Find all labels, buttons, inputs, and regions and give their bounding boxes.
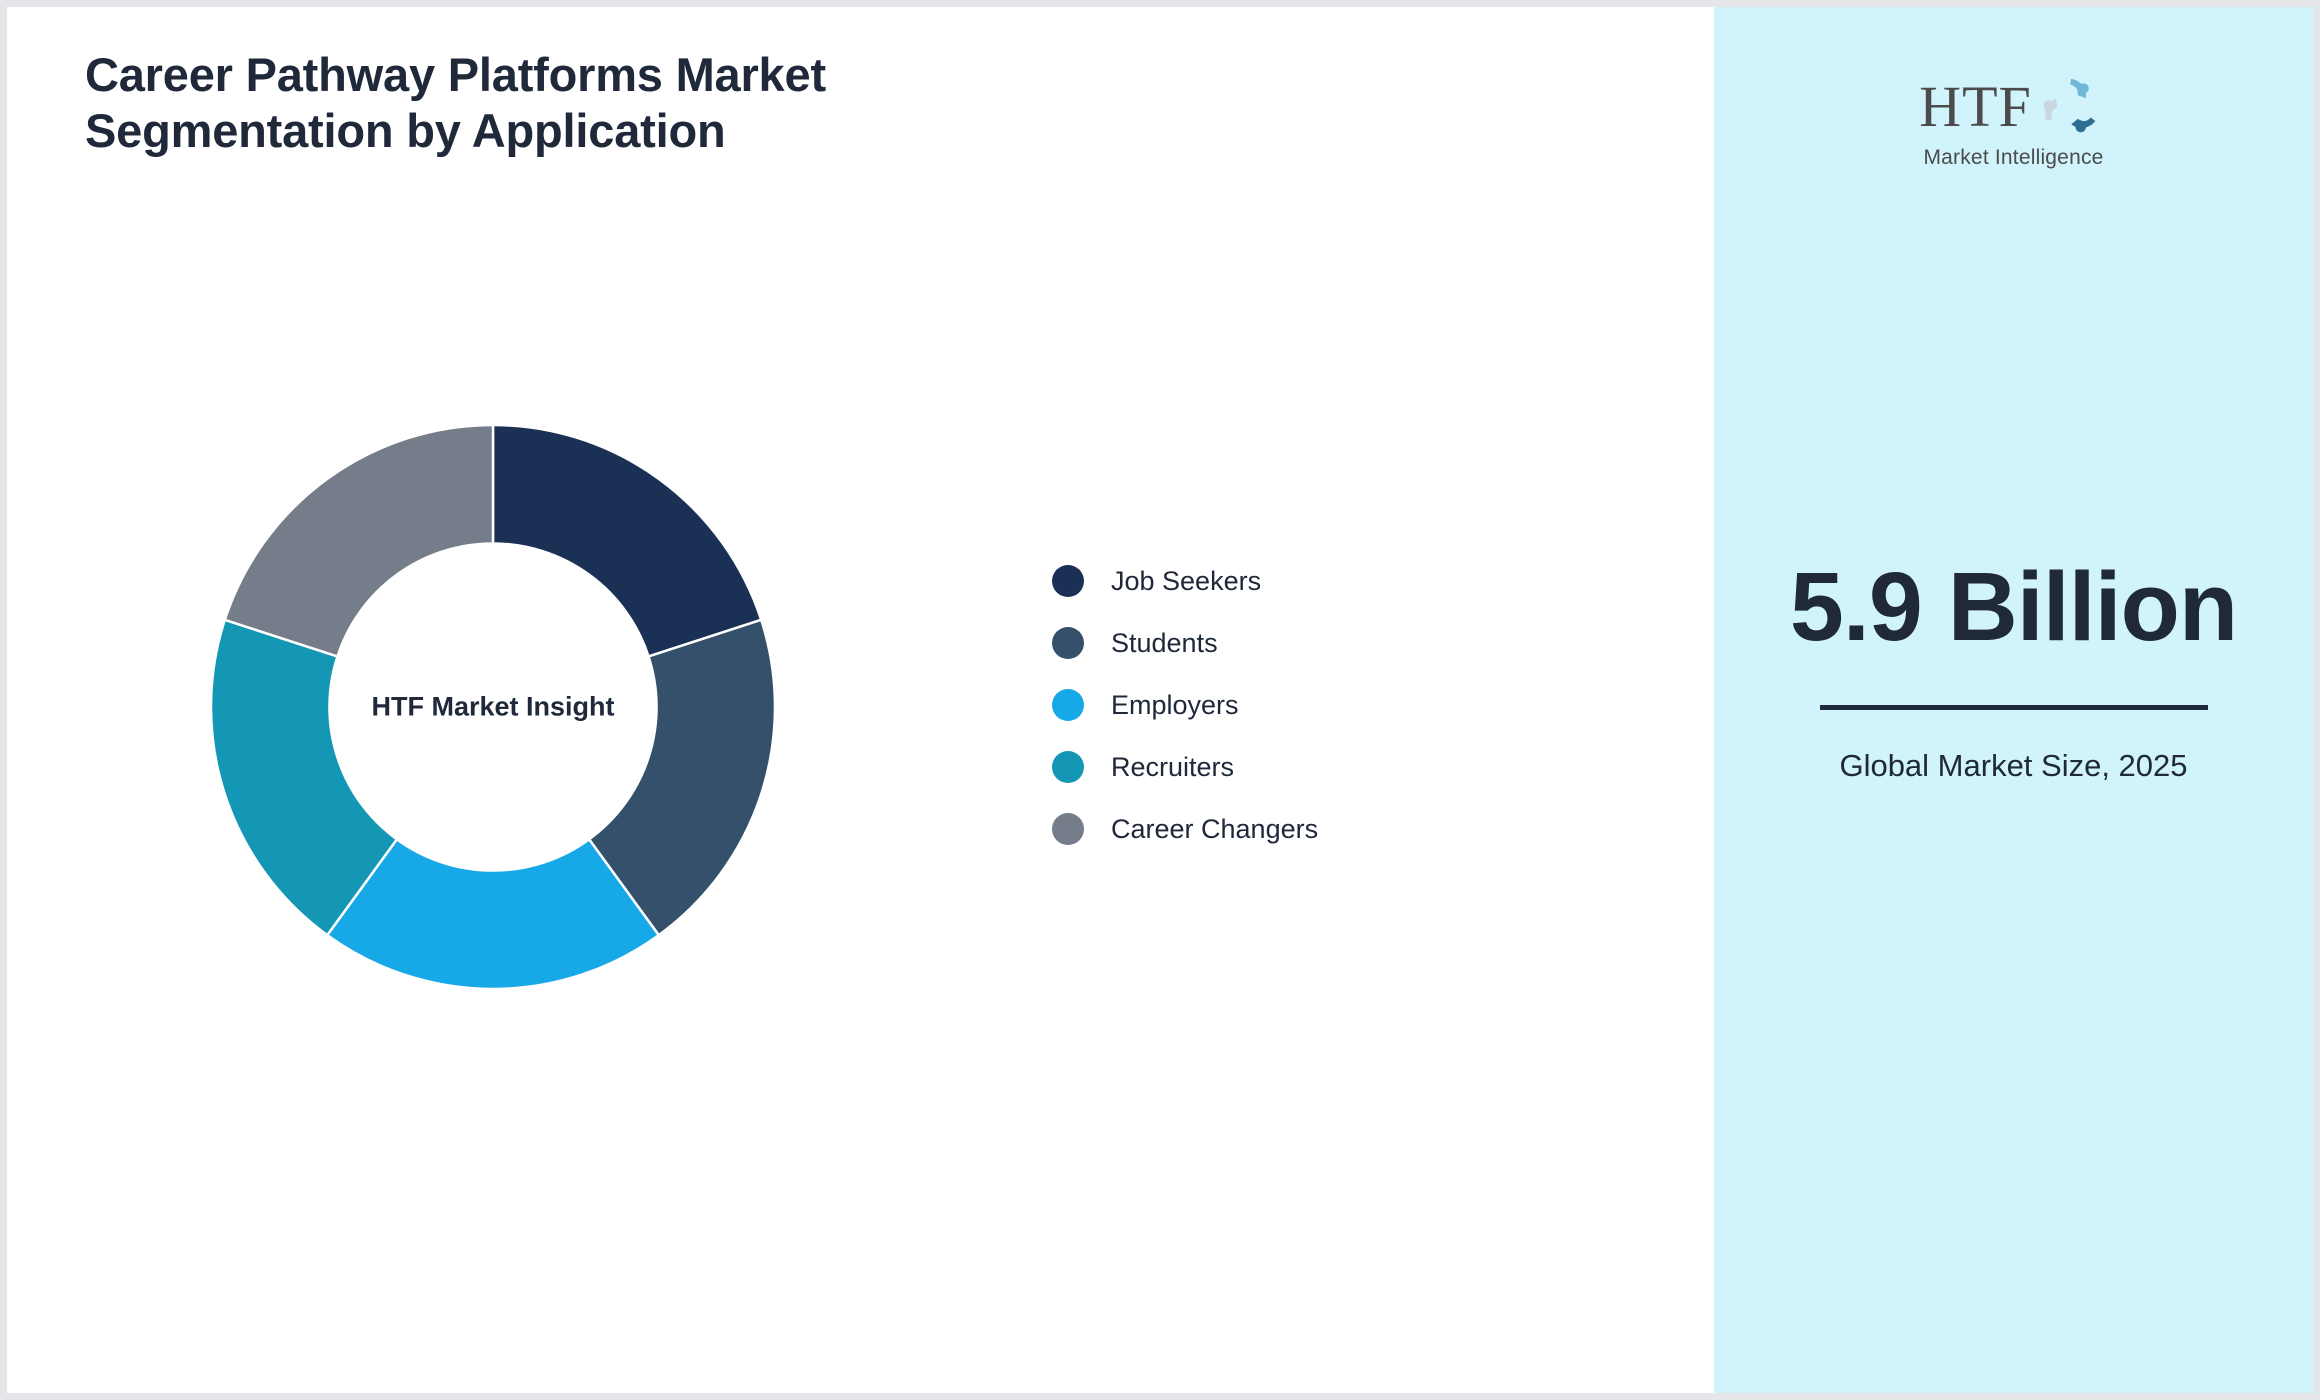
chart-legend: Job SeekersStudentsEmployersRecruitersCa… (1052, 562, 1318, 848)
legend-item-label: Career Changers (1111, 814, 1318, 845)
legend-swatch-icon (1052, 627, 1084, 659)
legend-item-label: Job Seekers (1111, 566, 1261, 597)
legend-item-label: Recruiters (1111, 752, 1234, 783)
stat-divider (1820, 705, 2208, 710)
legend-swatch-icon (1052, 565, 1084, 597)
infographic-card: Career Pathway Platforms Market Segmenta… (0, 0, 2320, 1400)
donut-slice-career-changers[interactable] (225, 425, 493, 656)
three-people-circle-icon (2034, 70, 2108, 144)
brand-logo: HTF (1889, 65, 2139, 175)
page-title: Career Pathway Platforms Market Segmenta… (85, 47, 1085, 159)
legend-item[interactable]: Job Seekers (1052, 562, 1318, 600)
chart-pane: Career Pathway Platforms Market Segmenta… (7, 7, 1714, 1393)
logo-tagline: Market Intelligence (1923, 146, 2103, 170)
donut-slice-job-seekers[interactable] (493, 425, 761, 656)
legend-item[interactable]: Recruiters (1052, 748, 1318, 786)
donut-chart-svg (203, 417, 783, 997)
legend-item[interactable]: Students (1052, 624, 1318, 662)
legend-item-label: Employers (1111, 690, 1239, 721)
legend-swatch-icon (1052, 689, 1084, 721)
logo-wordmark: HTF (1919, 79, 2032, 134)
donut-chart: HTF Market Insight (203, 417, 783, 997)
legend-item[interactable]: Career Changers (1052, 810, 1318, 848)
legend-swatch-icon (1052, 751, 1084, 783)
stat-value: 5.9 Billion (1784, 555, 2244, 659)
stat-block: 5.9 Billion Global Market Size, 2025 (1784, 555, 2244, 787)
stat-pane: HTF (1714, 7, 2313, 1393)
stat-caption: Global Market Size, 2025 (1784, 746, 2244, 787)
legend-item[interactable]: Employers (1052, 686, 1318, 724)
legend-item-label: Students (1111, 628, 1218, 659)
legend-swatch-icon (1052, 813, 1084, 845)
logo-top-row: HTF (1919, 70, 2108, 144)
